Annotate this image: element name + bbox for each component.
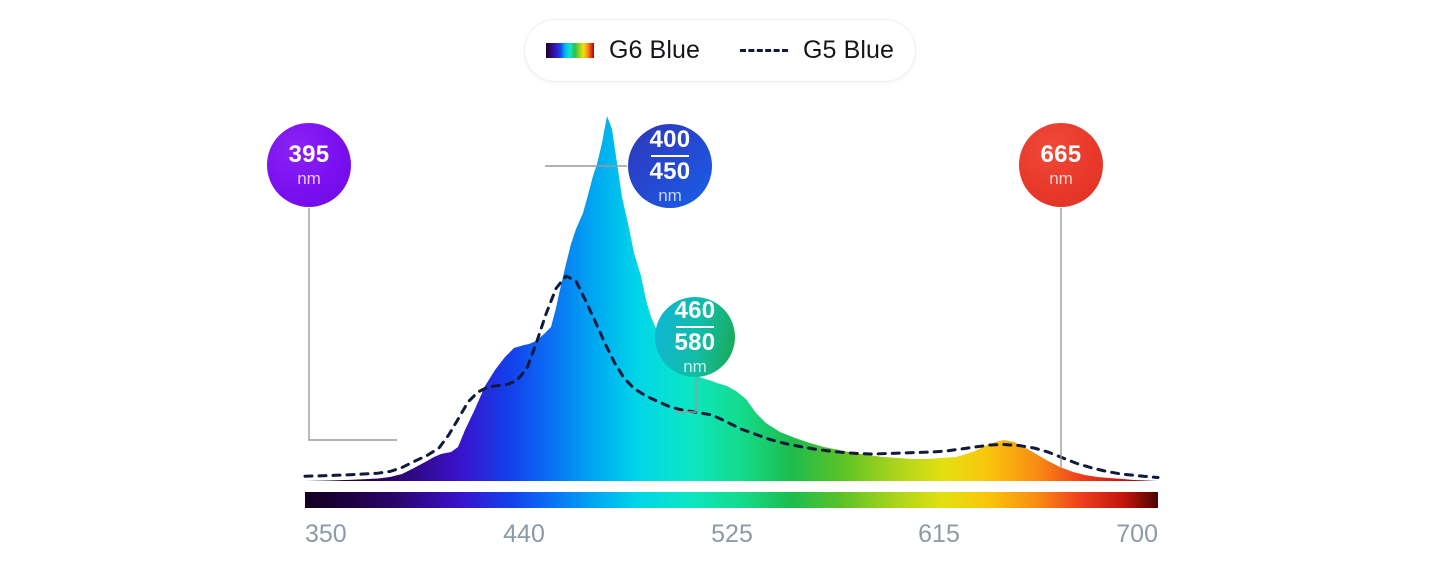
annotation-value-450: 450 [650,160,691,184]
visible-spectrum-bar [305,492,1158,508]
annotation-bubble-665[interactable]: 665 nm [1019,123,1103,207]
annotation-value-580: 580 [675,331,716,355]
annotation-value-400: 400 [650,128,691,152]
axis-tick-525: 525 [711,520,753,549]
annotation-bubble-395[interactable]: 395 nm [267,123,351,207]
x-axis: 350 440 525 615 700 [305,520,1158,560]
annotation-unit-400-450: nm [658,187,682,204]
annotation-bubble-460-580[interactable]: 460 580 nm [655,297,735,377]
annotation-unit-395: nm [297,170,321,187]
annotation-unit-460-580: nm [683,358,707,375]
range-divider-icon [676,326,714,328]
axis-tick-700: 700 [1116,520,1158,549]
axis-tick-615: 615 [918,520,960,549]
annotation-unit-665: nm [1049,170,1073,187]
annotation-bubble-400-450[interactable]: 400 450 nm [628,124,712,208]
axis-tick-440: 440 [503,520,545,549]
annotation-value-460: 460 [675,299,716,323]
spectral-chart-page: G6 Blue G5 Blue [0,0,1445,581]
annotation-value-665: 665 [1041,143,1082,167]
axis-tick-350: 350 [305,520,347,549]
leader-line-395 [309,208,397,440]
annotation-value-395: 395 [289,143,330,167]
range-divider-icon [651,155,689,157]
